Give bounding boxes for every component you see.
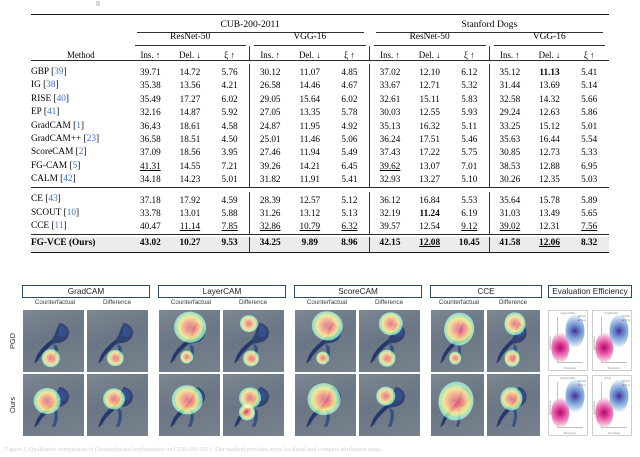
eval-ylabel: Generations — [593, 336, 596, 350]
heatmap-image — [223, 310, 284, 372]
table-cell-value: 5.11 — [449, 120, 489, 133]
qualitative-figure: GradCAMLayerCAMScoreCAMCCEEvaluation Eff… — [8, 285, 632, 443]
sublabel-counterfactual: Counterfactual — [160, 299, 222, 308]
value-emphasis: 32.86 — [260, 221, 281, 231]
table-cell-value: 40.47 — [131, 220, 171, 234]
table-cell-value: 5.83 — [449, 93, 489, 106]
table-cell-value: 5.01 — [569, 120, 609, 133]
sublabel-counterfactual: Counterfactual — [432, 299, 486, 308]
table-cell-value: 42.15 — [370, 237, 410, 253]
table-cell-value: 41.31 — [131, 160, 171, 173]
table-cell-value: 5.75 — [449, 146, 489, 159]
table-cell-value: 26.58 — [250, 79, 290, 92]
table-cell-value: 5.66 — [569, 93, 609, 106]
eval-plot: ScoreCAM■ PGD■ OursTimestampGenerations — [548, 375, 588, 436]
eval-legend: ■ PGD■ Ours — [622, 315, 630, 323]
sublabel-difference: Difference — [86, 299, 148, 308]
heatmap-image — [359, 310, 420, 372]
table-cell-value: 27.46 — [250, 146, 290, 159]
heatmap-image — [23, 374, 84, 436]
metric-header-xi-3: ξ ↑ — [449, 46, 489, 61]
table-cell-value: 6.02 — [210, 93, 250, 106]
table-cell-value: 5.65 — [569, 207, 609, 220]
heatmap-image — [487, 310, 540, 372]
table-cell-value: 5.32 — [449, 79, 489, 92]
table-cell-value: 10.45 — [449, 237, 489, 253]
heatmap-image — [431, 310, 484, 372]
table-cell-value: 12.57 — [290, 192, 330, 207]
table-cell-value: 13.27 — [410, 173, 450, 187]
table-cell-value: 12.55 — [410, 106, 450, 119]
figure-panel-titles: GradCAMLayerCAMScoreCAMCCEEvaluation Eff… — [8, 285, 632, 298]
table-cell-value: 34.18 — [131, 173, 171, 187]
value-emphasis: 39.02 — [500, 221, 521, 231]
metric-header-row: Method Ins. ↑ Del. ↓ ξ ↑ Ins. ↑ Del. ↓ ξ… — [31, 46, 609, 61]
table-cell-value: 17.27 — [170, 93, 210, 106]
table-cell-method: CALM [42] — [31, 173, 131, 187]
table-cell-value: 14.21 — [290, 160, 330, 173]
value-emphasis: 6.32 — [341, 221, 357, 231]
table-cell-value: 31.82 — [250, 173, 290, 187]
table-cell-value: 5.14 — [569, 79, 609, 92]
sublabel-counterfactual: Counterfactual — [24, 299, 86, 308]
eval-xlabel: Timestamp — [563, 432, 576, 435]
table-cell-value: 6.02 — [330, 93, 370, 106]
table-cell-value: 29.05 — [250, 93, 290, 106]
eval-plot-title: CCE — [604, 376, 610, 380]
table-cell-value: 13.07 — [410, 160, 450, 173]
heatmap-image — [223, 374, 284, 436]
table-cell-value: 12.06 — [530, 237, 570, 253]
table-cell-value: 30.12 — [250, 64, 290, 79]
table-cell-method: CE [43] — [31, 192, 131, 207]
table-cell-value: 3.95 — [210, 146, 250, 159]
table-cell-method: CCE [11] — [31, 220, 131, 234]
network-name-cub-resnet: ResNet-50 — [170, 32, 210, 42]
table-cell-method: ScoreCAM [2] — [31, 146, 131, 159]
heatmap-image — [431, 374, 484, 436]
panel-title-evaluation-efficiency: Evaluation Efficiency — [548, 285, 632, 298]
value-emphasis: 41.31 — [140, 161, 161, 171]
value-emphasis: 11.13 — [539, 67, 559, 77]
table-row: CALM [42]34.1814.235.0131.8211.915.4132.… — [31, 173, 609, 187]
table-cell-method: GBP [39] — [31, 64, 131, 79]
table-cell-value: 5.10 — [449, 173, 489, 187]
table-cell-value: 11.14 — [170, 220, 210, 234]
table-cell-value: 36.43 — [131, 120, 171, 133]
table-cell-method: SCOUT [10] — [31, 207, 131, 220]
table-cell-value: 13.12 — [290, 207, 330, 220]
table-cell-value: 17.51 — [410, 133, 450, 146]
table-cell-value: 32.19 — [370, 207, 410, 220]
table-cell-value: 5.86 — [569, 106, 609, 119]
table-cell-value: 5.33 — [569, 146, 609, 159]
table-cell-value: 10.79 — [290, 220, 330, 234]
table-cell-value: 5.93 — [449, 106, 489, 119]
table-cell-value: 15.12 — [530, 120, 570, 133]
eval-legend: ■ PGD■ Ours — [578, 380, 586, 388]
table-cell-value: 12.73 — [530, 146, 570, 159]
table-cell-value: 32.16 — [131, 106, 171, 119]
table-cell-value: 43.02 — [131, 237, 171, 253]
heatmap-image — [87, 310, 148, 372]
table-cell-value: 13.56 — [170, 79, 210, 92]
table-cell-value: 5.53 — [449, 192, 489, 207]
table-cell-value: 11.46 — [290, 133, 330, 146]
table-cell-value: 5.41 — [330, 173, 370, 187]
panel-title-gradcam: GradCAM — [22, 285, 150, 298]
table-cell-method: FG-CAM [5] — [31, 160, 131, 173]
table-cell-value: 4.92 — [330, 120, 370, 133]
table-cell-value: 5.76 — [210, 64, 250, 79]
heatmap-image — [23, 310, 84, 372]
table-cell-value: 9.53 — [210, 237, 250, 253]
table-cell-value: 5.92 — [210, 106, 250, 119]
results-table-container: CUB-200-2011 Stanford Dogs ResNet-50 — [31, 14, 609, 254]
heatmap-image — [87, 374, 148, 436]
table-cell-value: 35.38 — [131, 79, 171, 92]
value-emphasis: 43.02 — [140, 238, 161, 248]
table-cell-value: 13.49 — [530, 207, 570, 220]
table-cell-value: 11.94 — [290, 146, 330, 159]
metric-header-xi-2: ξ ↑ — [330, 46, 370, 61]
metric-header-del-4: Del. ↓ — [530, 46, 570, 61]
table-row: EP [41]32.1614.875.9227.0513.355.7830.03… — [31, 106, 609, 119]
eval-legend: ■ PGD■ Ours — [622, 380, 630, 388]
table-cell-value: 4.59 — [210, 192, 250, 207]
table-cell-value: 4.67 — [330, 79, 370, 92]
table-cell-value: 18.61 — [170, 120, 210, 133]
metric-header-del-2: Del. ↓ — [290, 46, 330, 61]
sublabel-difference: Difference — [222, 299, 284, 308]
table-cell-value: 36.12 — [370, 192, 410, 207]
table-cell-value: 34.25 — [250, 237, 290, 253]
figure-caption: Figure 3. Qualitative comparison of Coun… — [5, 446, 635, 456]
table-cell-value: 5.46 — [449, 133, 489, 146]
eval-plot: CCE■ PGD■ OursTimestampGenerations — [592, 375, 632, 436]
network-name-cub-vgg: VGG-16 — [293, 32, 326, 42]
table-cell-value: 8.32 — [569, 237, 609, 253]
table-cell-value: 37.18 — [131, 192, 171, 207]
table-cell-value: 7.85 — [210, 220, 250, 234]
table-cell-value: 5.13 — [330, 207, 370, 220]
table-cell-value: 6.19 — [449, 207, 489, 220]
table-cell-value: 27.05 — [250, 106, 290, 119]
table-cell-value: 6.32 — [330, 220, 370, 234]
value-emphasis: 11.24 — [420, 208, 440, 218]
table-cell-value: 24.87 — [250, 120, 290, 133]
table-cell-value: 36.24 — [370, 133, 410, 146]
metric-header-xi-1: ξ ↑ — [210, 46, 250, 61]
table-cell-value: 11.91 — [290, 173, 330, 187]
table-cell-value: 39.02 — [490, 220, 530, 234]
table-cell-value: 32.93 — [370, 173, 410, 187]
table-cell-value: 12.71 — [410, 79, 450, 92]
dataset-header-row: CUB-200-2011 Stanford Dogs — [31, 20, 609, 33]
table-row: GradCAM++ [23]36.5818.514.5025.0111.465.… — [31, 133, 609, 146]
heatmap-image — [487, 374, 540, 436]
eval-legend: ■ PGD■ Ours — [578, 315, 586, 323]
table-cell-value: 37.43 — [370, 146, 410, 159]
network-header-dogs-resnet: ResNet-50 — [370, 33, 490, 46]
table-cell-value: 17.22 — [410, 146, 450, 159]
heatmap-image — [295, 374, 356, 436]
table-cell-method: GradCAM [1] — [31, 120, 131, 133]
metric-header-xi-4: ξ ↑ — [569, 46, 609, 61]
dataset-header-spacer — [31, 20, 131, 33]
table-cell-value: 31.03 — [490, 207, 530, 220]
table-cell-value: 16.84 — [410, 192, 450, 207]
table-cell-value: 10.27 — [170, 237, 210, 253]
page-top-fragment — [96, 1, 100, 6]
eval-ylabel: Generations — [549, 336, 552, 350]
value-emphasis: 9.12 — [461, 221, 477, 231]
value-emphasis: 10.79 — [299, 221, 320, 231]
value-emphasis: 9.89 — [302, 238, 318, 248]
table-cell-value: 32.58 — [490, 93, 530, 106]
figure-row-label-pgd: PGD — [8, 311, 19, 371]
table-cell-value: 31.26 — [250, 207, 290, 220]
table-cell-value: 6.45 — [330, 160, 370, 173]
table-cell-value: 5.78 — [330, 106, 370, 119]
eval-plot: LayerCAM■ PGD■ OursTimestampGenerations — [548, 310, 588, 371]
table-cell-value: 18.51 — [170, 133, 210, 146]
panel-title-scorecam: ScoreCAM — [294, 285, 422, 298]
eval-plot: GradCAM■ PGD■ OursTimestampGenerations — [592, 310, 632, 371]
table-cell-value: 12.35 — [530, 173, 570, 187]
dataset-name-cub: CUB-200-2011 — [220, 19, 279, 30]
table-row: CE [43]37.1817.924.5928.3912.575.1236.12… — [31, 192, 609, 207]
table-cell-method: IG [38] — [31, 79, 131, 92]
table-cell-value: 7.01 — [449, 160, 489, 173]
table-group-counterfactual: CE [43]37.1817.924.5928.3912.575.1236.12… — [31, 192, 609, 235]
table-cell-value: 5.01 — [210, 173, 250, 187]
value-emphasis: 7.56 — [581, 221, 597, 231]
table-cell-value: 5.89 — [569, 192, 609, 207]
table-cell-value: 37.09 — [131, 146, 171, 159]
table-cell-value: 30.03 — [370, 106, 410, 119]
table-cell-value: 17.92 — [170, 192, 210, 207]
eval-xlabel: Timestamp — [563, 367, 576, 370]
table-cell-value: 16.44 — [530, 133, 570, 146]
table-cell-value: 30.85 — [490, 146, 530, 159]
table-cell-value: 12.10 — [410, 64, 450, 79]
table-cell-method: GradCAM++ [23] — [31, 133, 131, 146]
table-row: FG-VCE (Ours)43.0210.279.5334.259.898.96… — [31, 237, 609, 253]
network-header-row: ResNet-50 VGG-16 ResNet-50 VGG-16 — [31, 33, 609, 46]
table-row: IG [38]35.3813.564.2126.5814.464.6733.67… — [31, 79, 609, 92]
table-cell-value: 5.06 — [330, 133, 370, 146]
network-name-dogs-resnet: ResNet-50 — [410, 32, 450, 42]
value-emphasis: 8.96 — [341, 238, 357, 248]
heatmap-image — [359, 374, 420, 436]
value-emphasis: 10.45 — [459, 238, 480, 248]
network-header-spacer — [31, 33, 131, 46]
table-cell-value: 41.58 — [490, 237, 530, 253]
table-cell-value: 39.71 — [131, 64, 171, 79]
table-cell-value: 16.32 — [410, 120, 450, 133]
table-cell-value: 4.85 — [330, 64, 370, 79]
panel-title-layercam: LayerCAM — [158, 285, 286, 298]
table-cell-value: 7.21 — [210, 160, 250, 173]
table-cell-method: RISE [40] — [31, 93, 131, 106]
value-emphasis: 12.08 — [419, 238, 440, 248]
table-cell-value: 35.12 — [490, 64, 530, 79]
table-row: GBP [39]39.7114.725.7630.1211.074.8537.0… — [31, 64, 609, 79]
table-row: FG-CAM [5]41.3114.557.2139.2614.216.4539… — [31, 160, 609, 173]
table-group-attribution: GBP [39]39.7114.725.7630.1211.074.8537.0… — [31, 64, 609, 187]
table-cell-value: 14.46 — [290, 79, 330, 92]
table-cell-value: 14.32 — [530, 93, 570, 106]
eval-ylabel: Generations — [593, 401, 596, 415]
table-cell-value: 15.64 — [290, 93, 330, 106]
value-emphasis: 41.58 — [499, 238, 520, 248]
heatmap-image — [159, 310, 220, 372]
table-cell-value: 13.35 — [290, 106, 330, 119]
table-best-row-body: FG-VCE (Ours)43.0210.279.5334.259.898.96… — [31, 237, 609, 253]
table-bottomrule — [31, 252, 609, 254]
metric-header-del-3: Del. ↓ — [410, 46, 450, 61]
table-cell-value: 14.55 — [170, 160, 210, 173]
network-name-dogs-vgg: VGG-16 — [533, 32, 566, 42]
table-cell-value: 33.25 — [490, 120, 530, 133]
table-row: RISE [40]35.4917.276.0229.0515.646.0232.… — [31, 93, 609, 106]
table-cell-method: FG-VCE (Ours) — [31, 237, 131, 253]
table-cell-value: 35.49 — [131, 93, 171, 106]
table-cell-value: 12.88 — [530, 160, 570, 173]
table-cell-value: 33.67 — [370, 79, 410, 92]
table-cell-value: 9.89 — [290, 237, 330, 253]
table-cell-value: 39.62 — [370, 160, 410, 173]
value-emphasis: 8.32 — [581, 238, 597, 248]
table-cell-value: 15.78 — [530, 192, 570, 207]
table-cell-value: 31.44 — [490, 79, 530, 92]
table-cell-value: 7.56 — [569, 220, 609, 234]
table-bottom-wrap — [31, 252, 609, 254]
table-cell-method: EP [41] — [31, 106, 131, 119]
table-cell-value: 11.95 — [290, 120, 330, 133]
figure-row-label-ours: Ours — [8, 375, 19, 435]
panel-title-cce: CCE — [430, 285, 542, 298]
metric-header-ins-4: Ins. ↑ — [490, 46, 530, 61]
sublabel-difference: Difference — [358, 299, 420, 308]
table-cell-value: 35.13 — [370, 120, 410, 133]
heatmap-image — [295, 310, 356, 372]
table-cell-value: 32.61 — [370, 93, 410, 106]
paper-page: CUB-200-2011 Stanford Dogs ResNet-50 — [0, 0, 640, 457]
table-cell-value: 14.72 — [170, 64, 210, 79]
table-cell-value: 5.03 — [569, 173, 609, 187]
table-cell-value: 38.53 — [490, 160, 530, 173]
value-emphasis: 42.15 — [380, 238, 401, 248]
table-row: SCOUT [10]33.7813.015.8831.2613.125.1332… — [31, 207, 609, 220]
table-cell-value: 33.78 — [131, 207, 171, 220]
table-cell-value: 13.01 — [170, 207, 210, 220]
results-table: CUB-200-2011 Stanford Dogs ResNet-50 — [31, 14, 609, 254]
table-cell-value: 12.54 — [410, 220, 450, 234]
sublabel-difference: Difference — [486, 299, 540, 308]
dataset-name-dogs: Stanford Dogs — [462, 19, 518, 30]
table-row: GradCAM [1]36.4318.614.5824.8711.954.923… — [31, 120, 609, 133]
table-cell-value: 28.39 — [250, 192, 290, 207]
table-cell-value: 4.58 — [210, 120, 250, 133]
table-cell-value: 5.41 — [569, 64, 609, 79]
table-cell-value: 5.54 — [569, 133, 609, 146]
table-cell-value: 18.56 — [170, 146, 210, 159]
table-cell-value: 9.12 — [449, 220, 489, 234]
table-cell-value: 39.26 — [250, 160, 290, 173]
table-cell-value: 35.63 — [490, 133, 530, 146]
table-cell-value: 13.69 — [530, 79, 570, 92]
table-cell-value: 11.13 — [530, 64, 570, 79]
table-cell-value: 5.49 — [330, 146, 370, 159]
network-header-cub-resnet: ResNet-50 — [131, 33, 250, 46]
dataset-header-dogs: Stanford Dogs — [370, 20, 609, 33]
table-cell-value: 39.57 — [370, 220, 410, 234]
network-header-cub-vgg: VGG-16 — [250, 33, 370, 46]
table-row: CCE [11]40.4711.147.8532.8610.796.3239.5… — [31, 220, 609, 234]
table-cell-value: 14.23 — [170, 173, 210, 187]
table-cell-value: 32.86 — [250, 220, 290, 234]
table-cell-value: 12.08 — [410, 237, 450, 253]
metric-header-del-1: Del. ↓ — [170, 46, 210, 61]
dataset-header-cub: CUB-200-2011 — [131, 20, 370, 33]
table-cell-value: 12.63 — [530, 106, 570, 119]
value-emphasis: 10.27 — [180, 238, 201, 248]
table-cell-value: 6.95 — [569, 160, 609, 173]
value-emphasis: 34.25 — [260, 238, 281, 248]
table-cell-value: 37.02 — [370, 64, 410, 79]
table-cell-value: 12.31 — [530, 220, 570, 234]
metric-header-ins-3: Ins. ↑ — [370, 46, 410, 61]
value-emphasis: 9.53 — [221, 238, 237, 248]
metric-header-ins-1: Ins. ↑ — [131, 46, 171, 61]
table-cell-value: 8.96 — [330, 237, 370, 253]
figure-sublabels: CounterfactualDifferenceCounterfactualDi… — [8, 299, 632, 308]
sublabel-counterfactual: Counterfactual — [296, 299, 358, 308]
method-column-header: Method — [31, 46, 131, 61]
table-cell-value: 35.64 — [490, 192, 530, 207]
eval-xlabel: Timestamp — [607, 367, 620, 370]
table-cell-value: 30.26 — [490, 173, 530, 187]
eval-ylabel: Generations — [549, 401, 552, 415]
value-emphasis: 39.62 — [380, 161, 401, 171]
table-cell-value: 4.21 — [210, 79, 250, 92]
table-cell-value: 29.24 — [490, 106, 530, 119]
table-cell-value: 4.50 — [210, 133, 250, 146]
table-cell-value: 5.12 — [330, 192, 370, 207]
table-cell-value: 25.01 — [250, 133, 290, 146]
table-cell-value: 11.07 — [290, 64, 330, 79]
eval-xlabel: Timestamp — [607, 432, 620, 435]
value-emphasis: 11.14 — [180, 221, 200, 231]
table-cell-value: 5.88 — [210, 207, 250, 220]
value-emphasis: 7.85 — [222, 221, 238, 231]
table-cell-value: 14.87 — [170, 106, 210, 119]
table-cell-value: 15.11 — [410, 93, 450, 106]
value-emphasis: 12.06 — [539, 238, 560, 248]
heatmap-image — [159, 374, 220, 436]
network-header-dogs-vgg: VGG-16 — [490, 33, 609, 46]
metric-header-ins-2: Ins. ↑ — [250, 46, 290, 61]
table-row: ScoreCAM [2]37.0918.563.9527.4611.945.49… — [31, 146, 609, 159]
table-cell-value: 6.12 — [449, 64, 489, 79]
table-cell-value: 11.24 — [410, 207, 450, 220]
table-cell-value: 36.58 — [131, 133, 171, 146]
